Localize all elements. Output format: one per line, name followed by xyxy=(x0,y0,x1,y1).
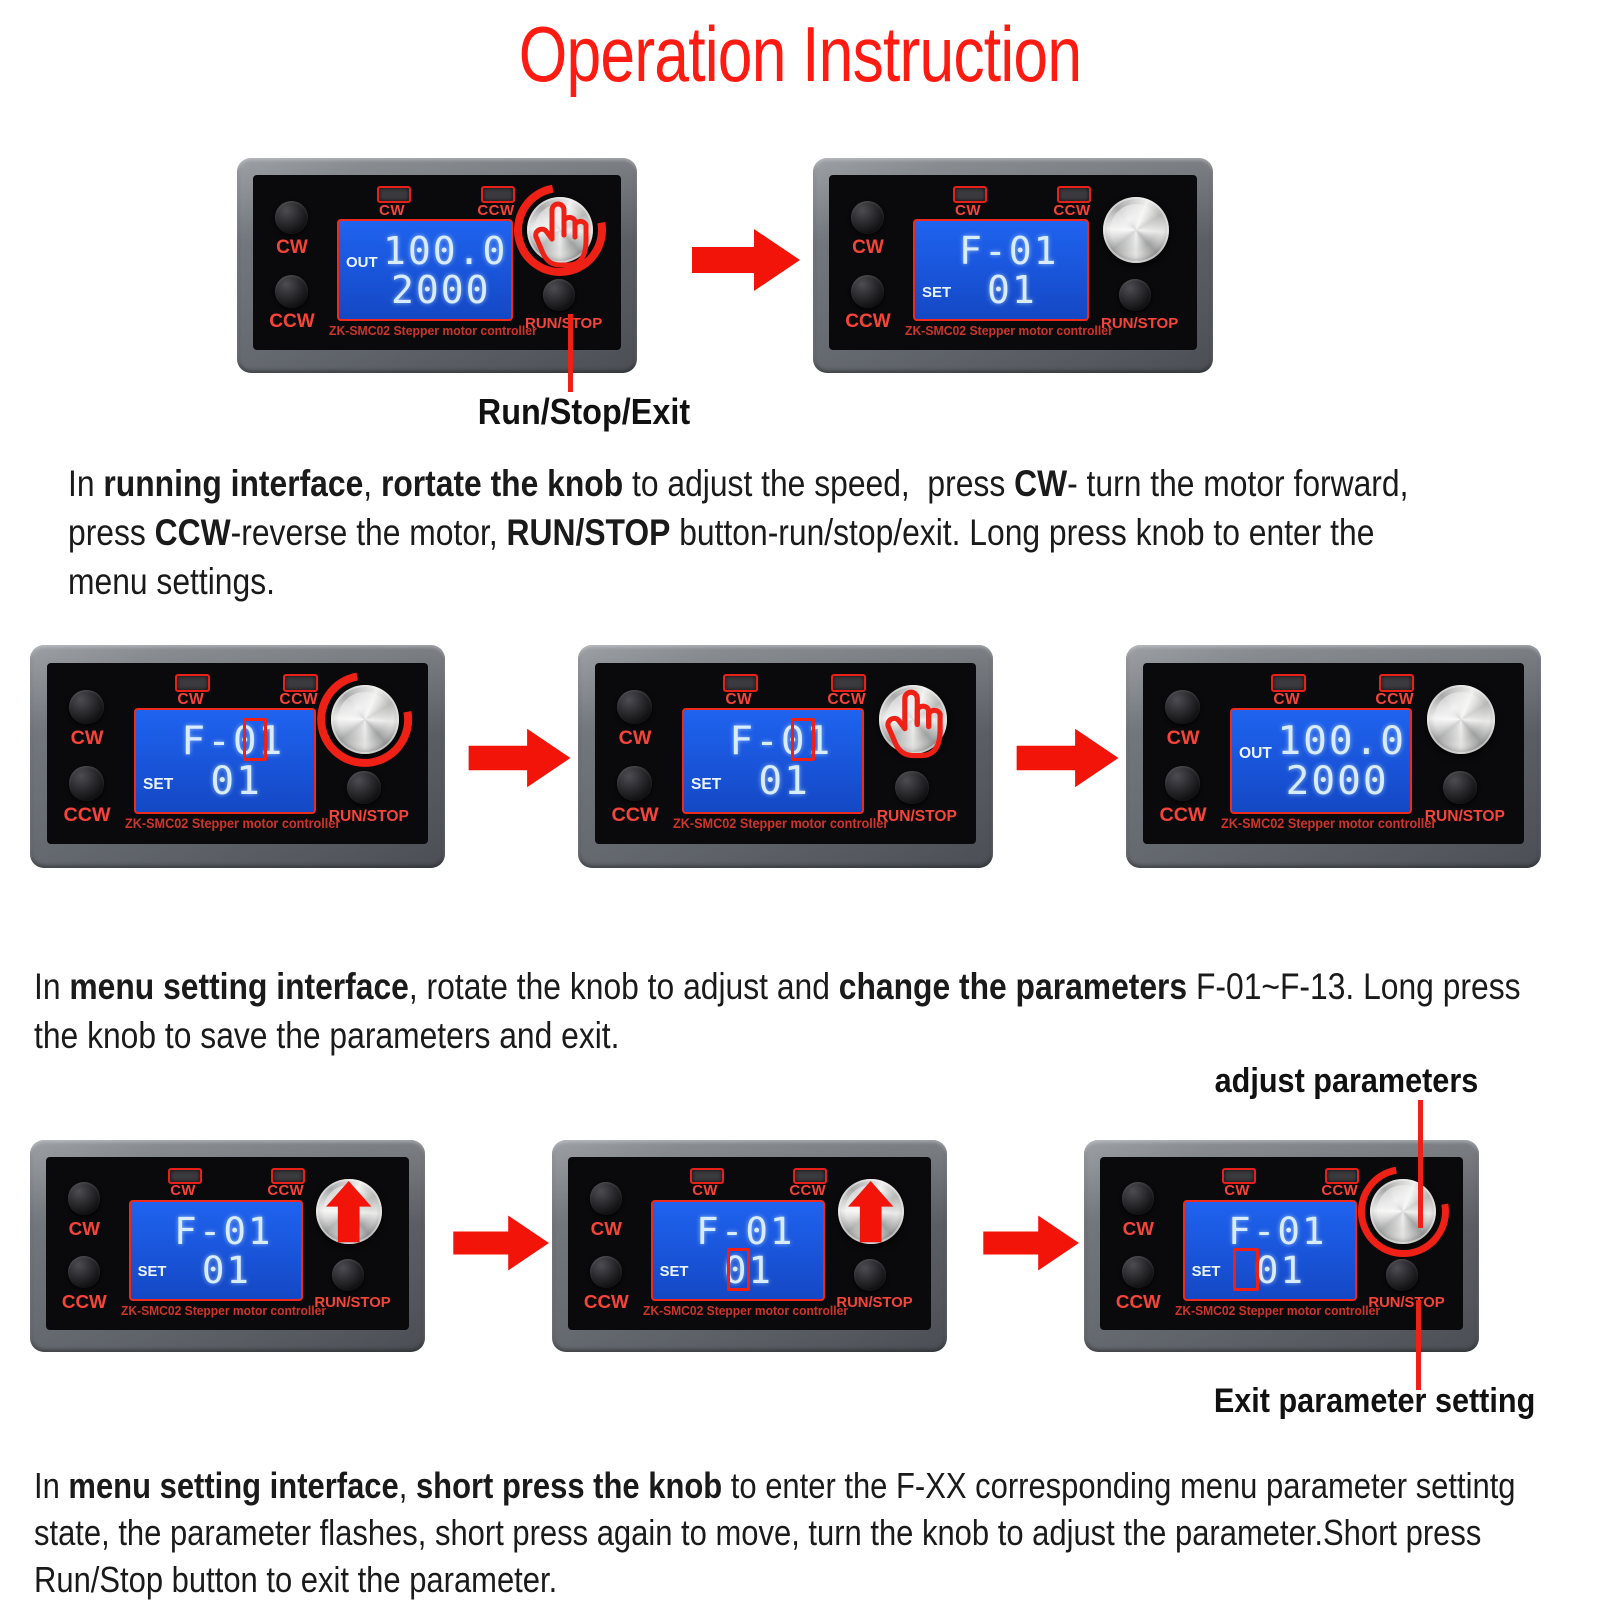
led-ccw-label: CCW xyxy=(1365,691,1425,709)
cw-button-label: CW xyxy=(261,237,323,259)
flow-arrow-right xyxy=(982,1212,1082,1279)
led-ccw-label: CCW xyxy=(779,1183,836,1199)
lcd-tag-out: OUT xyxy=(1239,745,1272,763)
model-silkscreen: ZK-SMC02 Stepper motor controller xyxy=(329,323,537,338)
ccw-button-label: CCW xyxy=(1104,1291,1173,1313)
lcd-line-1: 100.0 xyxy=(1277,720,1406,764)
text-run: CW xyxy=(1014,463,1067,504)
text-run: In xyxy=(34,1465,68,1506)
ccw-button-label: CCW xyxy=(572,1291,641,1313)
run-stop-button[interactable] xyxy=(895,771,928,804)
ccw-button[interactable] xyxy=(1165,766,1199,800)
faceplate: CWCCWCWCCWRUN/STOPZK-SMC02 Stepper motor… xyxy=(568,1157,931,1330)
text-run: , xyxy=(399,1465,416,1506)
led-cw-indicator xyxy=(953,186,987,203)
cw-button[interactable] xyxy=(851,201,884,234)
lcd-line-1: F-01 xyxy=(729,720,832,764)
flow-arrow-right xyxy=(1016,725,1121,796)
run-stop-button[interactable] xyxy=(332,1259,364,1291)
led-cw-indicator xyxy=(1271,674,1306,691)
lcd-screen: SETF-0101 xyxy=(651,1200,825,1301)
lcd-screen: SETF-0101 xyxy=(913,219,1089,321)
text-run: In xyxy=(34,966,69,1007)
led-cw-label: CW xyxy=(1259,691,1315,709)
led-cw-label: CW xyxy=(1210,1183,1263,1199)
led-cw-label: CW xyxy=(365,202,419,219)
led-cw-indicator xyxy=(723,674,758,691)
device-panel-menu-press-knob: CWCCWCWCCWRUN/STOPZK-SMC02 Stepper motor… xyxy=(578,645,993,868)
paragraph-running-interface: In running interface, rortate the knob t… xyxy=(68,459,1410,606)
flow-arrow-right xyxy=(468,725,573,796)
callout-line-runstop xyxy=(568,314,573,392)
model-silkscreen: ZK-SMC02 Stepper motor controller xyxy=(643,1303,848,1318)
lcd-line-2: 01 xyxy=(210,760,261,804)
device-panel-run-output: CWCCWCWCCWRUN/STOPZK-SMC02 Stepper motor… xyxy=(1126,645,1541,868)
led-ccw-indicator xyxy=(793,1168,827,1185)
ccw-button-label: CCW xyxy=(599,804,672,827)
device-panel-run-interface: CWCCWCWCCWRUN/STOPZK-SMC02 Stepper motor… xyxy=(237,158,637,373)
led-ccw-indicator xyxy=(271,1168,305,1185)
digit-highlight xyxy=(243,718,268,762)
led-cw-indicator xyxy=(175,674,210,691)
cw-button-label: CW xyxy=(1151,727,1215,750)
model-silkscreen: ZK-SMC02 Stepper motor controller xyxy=(1221,816,1436,831)
cw-button[interactable] xyxy=(617,690,651,724)
knob-turn-up-arrow-icon xyxy=(325,1181,372,1244)
lcd-line-1: F-01 xyxy=(181,720,284,764)
lcd-line-1: 100.0 xyxy=(383,230,507,272)
faceplate: CWCCWCWCCWRUN/STOPZK-SMC02 Stepper motor… xyxy=(47,663,429,845)
lcd-tag-set: SET xyxy=(138,1264,167,1280)
led-cw-label: CW xyxy=(163,691,219,709)
knob-rotate-ring xyxy=(299,663,429,787)
led-cw-indicator xyxy=(690,1168,724,1185)
ccw-button[interactable] xyxy=(851,275,884,308)
model-silkscreen: ZK-SMC02 Stepper motor controller xyxy=(125,816,340,831)
press-hand-icon xyxy=(530,197,596,269)
lcd-screen: SETF-0101 xyxy=(129,1200,303,1301)
lcd-tag-set: SET xyxy=(1192,1264,1221,1280)
lcd-tag-set: SET xyxy=(143,776,173,794)
lcd-tag-set: SET xyxy=(691,776,721,794)
led-ccw-label: CCW xyxy=(257,1183,314,1199)
cw-button-label: CW xyxy=(837,237,899,259)
lcd-tag-out: OUT xyxy=(346,254,378,271)
lcd-screen: SETF-0101 xyxy=(682,708,864,814)
faceplate: CWCCWCWCCWRUN/STOPZK-SMC02 Stepper motor… xyxy=(253,175,621,350)
annotation-exit-parameter-setting: Exit parameter setting xyxy=(1214,1382,1535,1420)
knob-turn-up-arrow-icon xyxy=(847,1181,894,1244)
led-ccw-indicator xyxy=(831,674,866,691)
led-cw-label: CW xyxy=(678,1183,731,1199)
rotary-knob[interactable] xyxy=(1427,685,1495,753)
lcd-line-2: 01 xyxy=(1256,1250,1305,1291)
run-stop-button[interactable] xyxy=(543,279,575,311)
annotation-run-stop-exit: Run/Stop/Exit xyxy=(478,393,690,431)
device-panel-menu-knob-up: CWCCWCWCCWRUN/STOPZK-SMC02 Stepper motor… xyxy=(30,1140,425,1352)
ccw-button-label: CCW xyxy=(50,1291,119,1313)
led-ccw-label: CCW xyxy=(817,691,877,709)
lcd-screen: SETF-0101 xyxy=(134,708,316,814)
ccw-button-label: CCW xyxy=(51,804,124,827)
text-run: In xyxy=(68,463,103,504)
text-run: -reverse the motor, xyxy=(231,512,507,553)
led-ccw-indicator xyxy=(283,674,318,691)
ccw-button[interactable] xyxy=(590,1256,623,1289)
ccw-button-label: CCW xyxy=(257,311,327,333)
faceplate: CWCCWCWCCWRUN/STOPZK-SMC02 Stepper motor… xyxy=(595,663,977,845)
lcd-tag-set: SET xyxy=(922,284,951,301)
model-silkscreen: ZK-SMC02 Stepper motor controller xyxy=(121,1303,326,1318)
annotation-adjust-parameters: adjust parameters xyxy=(1215,1062,1479,1100)
lcd-screen: SETF-0101 xyxy=(1183,1200,1357,1301)
digit-highlight xyxy=(1233,1248,1259,1291)
text-run: , xyxy=(363,463,381,504)
callout-line-adjust-parameters xyxy=(1418,1100,1423,1228)
run-stop-button[interactable] xyxy=(1443,771,1476,804)
device-panel-menu-entered: CWCCWCWCCWRUN/STOPZK-SMC02 Stepper motor… xyxy=(813,158,1213,373)
lcd-line-1: F-01 xyxy=(696,1211,794,1252)
run-stop-button[interactable] xyxy=(854,1259,886,1291)
faceplate: CWCCWCWCCWRUN/STOPZK-SMC02 Stepper motor… xyxy=(1143,663,1525,845)
text-run: menu setting interface xyxy=(69,966,408,1007)
ccw-button[interactable] xyxy=(69,766,103,800)
cw-button-label: CW xyxy=(1108,1218,1169,1240)
text-run: menu setting interface xyxy=(68,1465,398,1506)
lcd-line-2: 2000 xyxy=(391,269,491,311)
cw-button[interactable] xyxy=(69,690,103,724)
lcd-line-1: F-01 xyxy=(174,1211,272,1252)
ccw-button[interactable] xyxy=(68,1256,101,1289)
callout-line-exit-parameter xyxy=(1416,1300,1421,1390)
run-stop-button[interactable] xyxy=(1386,1259,1418,1291)
cw-button-label: CW xyxy=(603,727,667,750)
led-cw-indicator xyxy=(377,186,411,203)
cw-button-label: CW xyxy=(55,727,119,750)
flow-arrow-right xyxy=(452,1212,552,1279)
device-panel-menu-f01-highlight: CWCCWCWCCWRUN/STOPZK-SMC02 Stepper motor… xyxy=(30,645,445,868)
lcd-screen: OUT100.02000 xyxy=(337,219,513,321)
cw-button[interactable] xyxy=(1165,690,1199,724)
faceplate: CWCCWCWCCWRUN/STOPZK-SMC02 Stepper motor… xyxy=(46,1157,409,1330)
digit-highlight xyxy=(791,718,816,762)
lcd-line-1: F-01 xyxy=(1228,1211,1326,1252)
led-ccw-indicator xyxy=(1379,674,1414,691)
lcd-line-2: 01 xyxy=(987,269,1037,311)
led-ccw-indicator xyxy=(1325,1168,1359,1185)
cw-button[interactable] xyxy=(68,1182,101,1215)
text-run: to adjust the speed, press xyxy=(623,463,1014,504)
led-ccw-indicator xyxy=(481,186,515,203)
led-cw-label: CW xyxy=(156,1183,209,1199)
led-cw-indicator xyxy=(1222,1168,1256,1185)
led-ccw-indicator xyxy=(1057,186,1091,203)
run-stop-button[interactable] xyxy=(1119,279,1151,311)
text-run: short press the knob xyxy=(416,1465,722,1506)
ccw-button[interactable] xyxy=(617,766,651,800)
model-silkscreen: ZK-SMC02 Stepper motor controller xyxy=(905,323,1113,338)
paragraph-short-press-knob: In menu setting interface, short press t… xyxy=(34,1462,1548,1603)
faceplate: CWCCWCWCCWRUN/STOPZK-SMC02 Stepper motor… xyxy=(829,175,1197,350)
model-silkscreen: ZK-SMC02 Stepper motor controller xyxy=(1175,1303,1380,1318)
text-run: change the parameters xyxy=(839,966,1187,1007)
cw-button-label: CW xyxy=(576,1218,637,1240)
ccw-button-label: CCW xyxy=(833,311,903,333)
led-ccw-label: CCW xyxy=(1043,202,1101,219)
cw-button[interactable] xyxy=(590,1182,623,1215)
lcd-line-2: 2000 xyxy=(1286,760,1389,804)
ccw-button-label: CCW xyxy=(1147,804,1220,827)
faceplate: CWCCWCWCCWRUN/STOPZK-SMC02 Stepper motor… xyxy=(1100,1157,1463,1330)
text-run: rortate the knob xyxy=(381,463,623,504)
lcd-screen: OUT100.02000 xyxy=(1230,708,1412,814)
lcd-line-2: 01 xyxy=(202,1250,251,1291)
digit-highlight xyxy=(727,1248,751,1291)
flow-arrow-right xyxy=(692,225,802,300)
press-hand-icon xyxy=(882,685,950,760)
led-cw-label: CW xyxy=(941,202,995,219)
rotary-knob[interactable] xyxy=(1103,197,1169,263)
cw-button[interactable] xyxy=(1122,1182,1155,1215)
text-run: , rotate the knob to adjust and xyxy=(409,966,839,1007)
ccw-button[interactable] xyxy=(275,275,308,308)
cw-button-label: CW xyxy=(54,1218,115,1240)
text-run: CCW xyxy=(155,512,231,553)
cw-button[interactable] xyxy=(275,201,308,234)
run-stop-button[interactable] xyxy=(347,771,380,804)
model-silkscreen: ZK-SMC02 Stepper motor controller xyxy=(673,816,888,831)
lcd-line-1: F-01 xyxy=(959,230,1059,272)
led-cw-label: CW xyxy=(711,691,767,709)
text-run: running interface xyxy=(103,463,363,504)
led-cw-indicator xyxy=(168,1168,202,1185)
ccw-button[interactable] xyxy=(1122,1256,1155,1289)
device-panel-param-digit-ones: CWCCWCWCCWRUN/STOPZK-SMC02 Stepper motor… xyxy=(552,1140,947,1352)
text-run: RUN/STOP xyxy=(507,512,671,553)
lcd-line-2: 01 xyxy=(758,760,809,804)
page-title: Operation Instruction xyxy=(160,8,1440,100)
lcd-tag-set: SET xyxy=(660,1264,689,1280)
paragraph-menu-setting-interface: In menu setting interface, rotate the kn… xyxy=(34,962,1548,1060)
